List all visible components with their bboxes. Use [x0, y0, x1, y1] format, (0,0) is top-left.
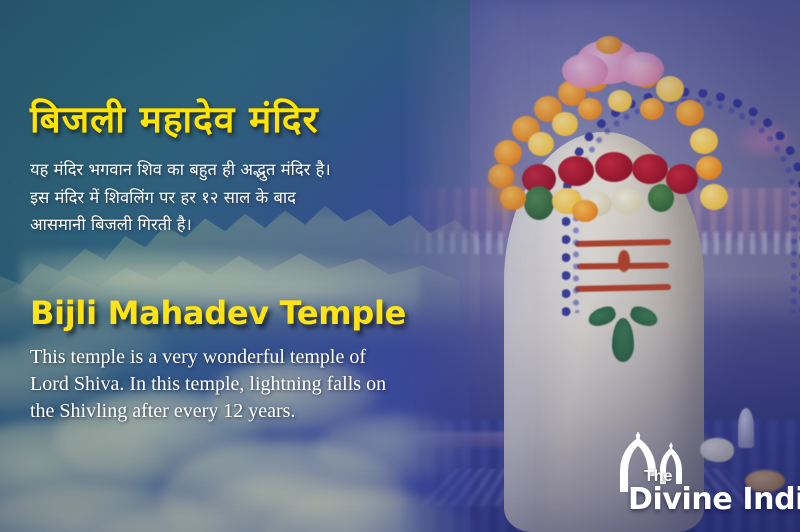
english-description-line: Lord Shiva. In this temple, lightning fa… — [30, 371, 450, 398]
english-title: Bijli Mahadev Temple — [30, 294, 406, 332]
bijli-mahadev-temple-banner: बिजली महादेव मंदिर यह मंदिर भगवान शिव का… — [0, 0, 800, 532]
divine-india-logo[interactable]: The Divine India — [614, 432, 792, 520]
hindi-description-line: यह मंदिर भगवान शिव का बहुत ही अद्भुत मंद… — [30, 156, 430, 184]
hindi-description-line: आसमानी बिजली गिरती है। — [30, 211, 430, 239]
hindi-description-line: इस मंदिर में शिवलिंग पर हर १२ साल के बाद — [30, 184, 430, 212]
hindi-title: बिजली महादेव मंदिर — [30, 92, 319, 143]
logo-name-text: Divine India — [628, 482, 800, 517]
english-description-line: This temple is a very wonderful temple o… — [30, 344, 450, 371]
hindi-description: यह मंदिर भगवान शिव का बहुत ही अद्भुत मंद… — [30, 156, 430, 239]
text-content: बिजली महादेव मंदिर यह मंदिर भगवान शिव का… — [0, 0, 800, 532]
english-description: This temple is a very wonderful temple o… — [30, 344, 450, 425]
english-description-line: the Shivling after every 12 years. — [30, 398, 450, 425]
